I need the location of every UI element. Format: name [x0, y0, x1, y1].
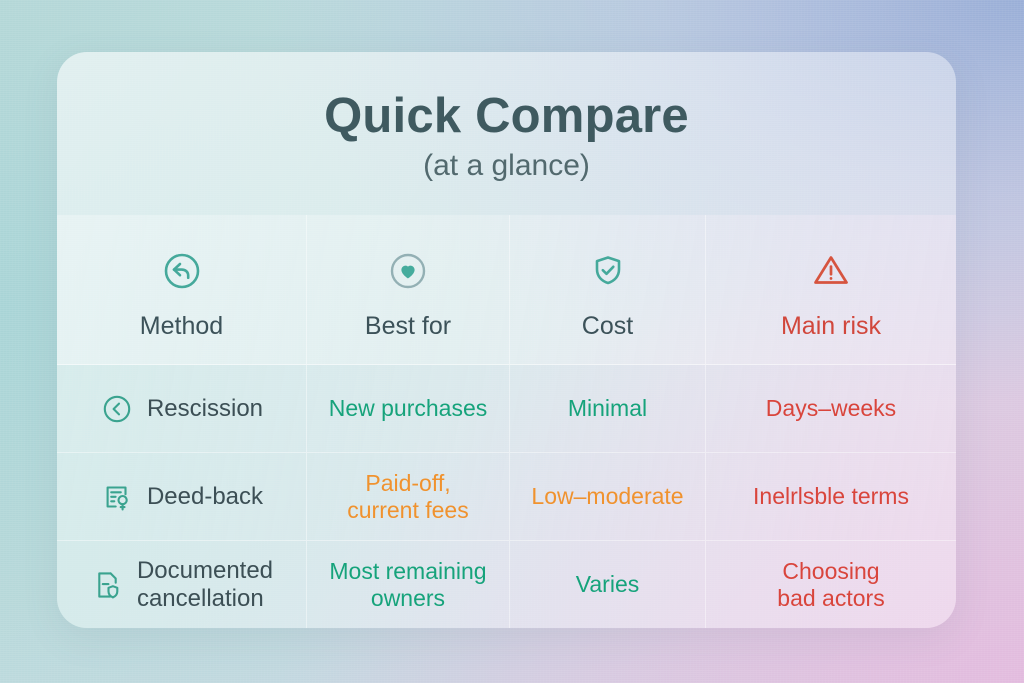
table-row: Documentedcancellation Most remainingown…	[57, 541, 956, 628]
cell-main-risk: Days–weeks	[706, 365, 956, 452]
warning-triangle-icon	[806, 245, 856, 297]
comparison-card: Quick Compare (at a glance) Method	[57, 52, 956, 628]
cell-best-for: Most remainingowners	[307, 541, 510, 628]
cell-best-for: New purchases	[307, 365, 510, 452]
table-row: Rescission New purchases Minimal Days–we…	[57, 365, 956, 453]
column-header-label: Cost	[582, 313, 633, 341]
cell-value: Inelrlsble terms	[753, 483, 909, 510]
cell-best-for: Paid-off,current fees	[307, 453, 510, 540]
page-subtitle: (at a glance)	[423, 149, 590, 182]
table-row: Deed-back Paid-off,current fees Low–mode…	[57, 453, 956, 541]
column-header-best-for: Best for	[307, 215, 510, 364]
method-label: Documentedcancellation	[137, 557, 273, 612]
comparison-table: Method Best for Cost	[57, 215, 956, 628]
cell-cost: Minimal	[510, 365, 706, 452]
cell-cost: Low–moderate	[510, 453, 706, 540]
cell-value: New purchases	[329, 395, 488, 422]
cell-value: Choosingbad actors	[777, 558, 884, 611]
column-header-label: Best for	[365, 313, 451, 341]
column-header-label: Method	[140, 313, 223, 341]
cell-main-risk: Inelrlsble terms	[706, 453, 956, 540]
cell-value: Paid-off,current fees	[347, 470, 468, 523]
cell-value: Minimal	[568, 395, 647, 422]
cell-value: Most remainingowners	[329, 558, 486, 611]
page-title: Quick Compare	[324, 91, 689, 142]
cell-value: Days–weeks	[766, 395, 896, 422]
chevron-left-circle-icon	[100, 392, 134, 426]
cell-method: Documentedcancellation	[57, 541, 307, 628]
column-header-method: Method	[57, 215, 307, 364]
cell-value: Low–moderate	[531, 483, 683, 510]
document-shield-icon	[90, 568, 124, 602]
undo-arrow-circle-icon	[159, 245, 205, 297]
cell-method: Deed-back	[57, 453, 307, 540]
column-header-main-risk: Main risk	[706, 215, 956, 364]
cell-value: Varies	[576, 571, 640, 598]
cell-method: Rescission	[57, 365, 307, 452]
column-header-cost: Cost	[510, 215, 706, 364]
heart-circle-icon	[385, 245, 431, 297]
column-header-label: Main risk	[781, 313, 881, 341]
cell-main-risk: Choosingbad actors	[706, 541, 956, 628]
shield-check-icon	[585, 245, 631, 297]
table-header-row: Method Best for Cost	[57, 215, 956, 365]
title-block: Quick Compare (at a glance)	[57, 52, 956, 215]
method-label: Deed-back	[147, 483, 263, 510]
certificate-seal-icon	[100, 480, 134, 514]
method-label: Rescission	[147, 395, 263, 422]
cell-cost: Varies	[510, 541, 706, 628]
